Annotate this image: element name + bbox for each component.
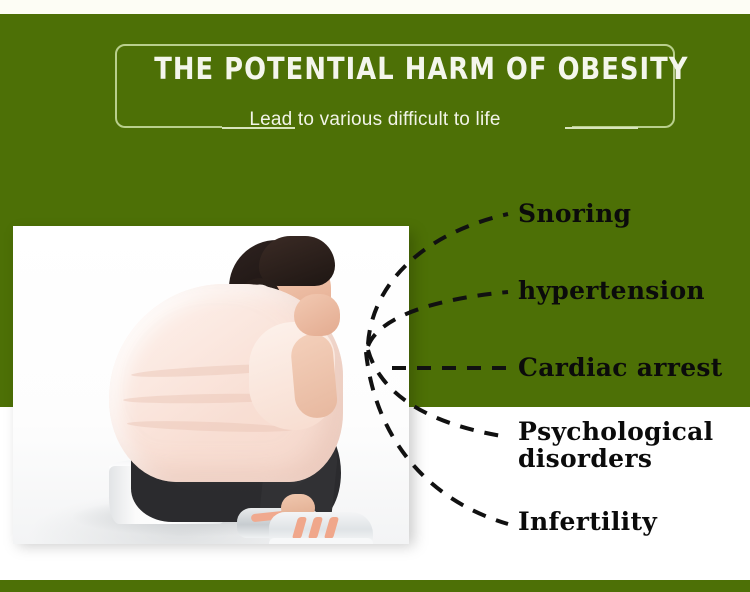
callout-label-cardiac-arrest: Cardiac arrest xyxy=(518,354,723,381)
callout-label-line2: disorders xyxy=(518,445,748,472)
connector-hypertension xyxy=(368,292,508,346)
callout-label-psychological-disorders: Psychological disorders xyxy=(518,418,748,472)
connector-infertility xyxy=(366,352,508,524)
callout-label-snoring: Snoring xyxy=(518,200,631,227)
connector-psychological xyxy=(368,350,508,437)
poster-root: THE POTENTIAL HARM OF OBESITY Lead to va… xyxy=(0,0,750,592)
callout-label-line1: Psychological xyxy=(518,418,748,445)
callout-label-infertility: Infertility xyxy=(518,508,657,535)
callout-label-hypertension: hypertension xyxy=(518,277,705,304)
